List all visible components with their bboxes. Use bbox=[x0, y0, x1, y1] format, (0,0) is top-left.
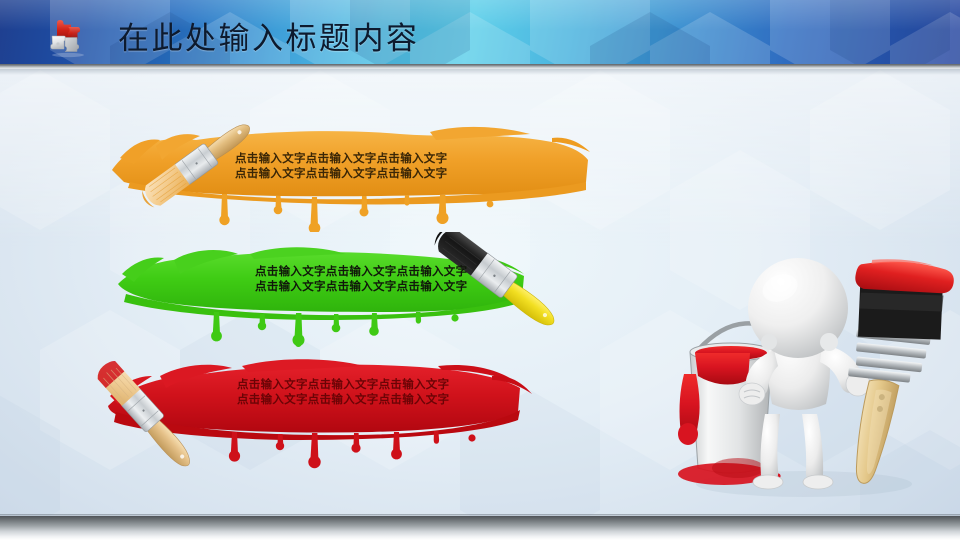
slide-footer-bar bbox=[0, 516, 960, 540]
banner-green[interactable]: 点击输入文字点击输入文字点击输入文字 点击输入文字点击输入文字点击输入文字 bbox=[110, 232, 580, 350]
banner-red-line-1: 点击输入文字点击输入文字点击输入文字 bbox=[237, 378, 449, 393]
3d-figure-with-paintbrush-and-bucket bbox=[676, 232, 960, 500]
banner-green-line-2: 点击输入文字点击输入文字点击输入文字 bbox=[255, 280, 467, 295]
slide-title: 在此处输入标题内容 bbox=[118, 13, 420, 58]
banner-orange-line-2: 点击输入文字点击输入文字点击输入文字 bbox=[235, 167, 447, 182]
puzzle-piece-icon bbox=[44, 18, 96, 58]
paint-stroke-red bbox=[82, 346, 552, 476]
header-divider-shadow bbox=[0, 69, 960, 75]
banner-green-line-1: 点击输入文字点击输入文字点击输入文字 bbox=[255, 265, 467, 280]
banner-orange-line-1: 点击输入文字点击输入文字点击输入文字 bbox=[235, 152, 447, 167]
banner-red-line-2: 点击输入文字点击输入文字点击输入文字 bbox=[237, 393, 449, 408]
banner-orange[interactable]: 点击输入文字点击输入文字点击输入文字 点击输入文字点击输入文字点击输入文字 bbox=[100, 112, 600, 232]
banner-red[interactable]: 点击输入文字点击输入文字点击输入文字 点击输入文字点击输入文字点击输入文字 bbox=[82, 346, 552, 476]
slide-canvas: 在此处输入标题内容 bbox=[0, 0, 960, 540]
